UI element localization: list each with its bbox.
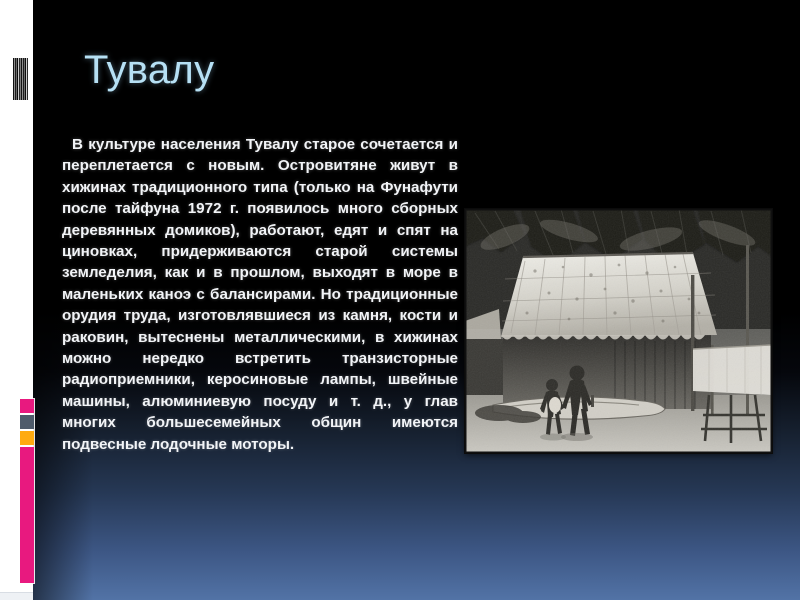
amber-chip-decoration <box>20 431 34 445</box>
hut-photograph-image <box>465 209 772 453</box>
rail-footer-line <box>0 592 33 600</box>
slide-title: Тувалу <box>84 48 214 93</box>
presentation-slide: Тувалу В культуре населения Тувалу старо… <box>0 0 800 600</box>
slide-photo <box>465 209 772 453</box>
striped-bar-decoration-icon <box>13 58 28 100</box>
magenta-accent-bar <box>20 447 34 583</box>
slide-body-text: В культуре населения Тувалу старое сочет… <box>62 134 458 455</box>
slate-chip-decoration <box>20 415 34 429</box>
pink-chip-decoration <box>20 399 34 413</box>
